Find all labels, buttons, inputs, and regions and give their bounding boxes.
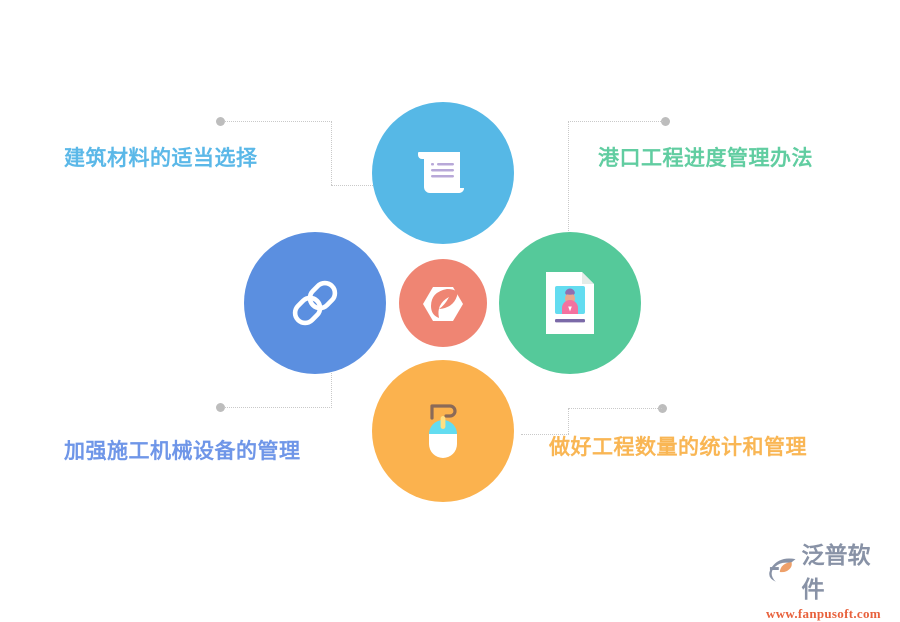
connector-segment-h	[224, 121, 332, 122]
center-circle-logo[interactable]	[399, 259, 487, 347]
fanpu-leaf-logo-icon	[417, 277, 469, 329]
connector-segment-h	[568, 121, 663, 122]
connector-dot-top-left	[216, 117, 225, 126]
connector-segment-h	[568, 408, 662, 409]
scroll-document-icon	[412, 142, 474, 204]
node-circle-bottom[interactable]	[372, 360, 514, 502]
node-circle-right[interactable]	[499, 232, 641, 374]
connector-segment-h	[224, 407, 332, 408]
connector-dot-bottom-right	[658, 404, 667, 413]
watermark-brand-row: 泛普软件	[766, 536, 892, 604]
connector-dot-bottom-left	[216, 403, 225, 412]
fanpu-swoosh-leaf-logo-icon	[766, 556, 799, 584]
node-circle-left[interactable]	[244, 232, 386, 374]
label-bottom-right: 做好工程数量的统计和管理	[549, 431, 807, 461]
watermark-brand-text: 泛普软件	[801, 536, 892, 604]
node-circle-top[interactable]	[372, 102, 514, 244]
label-bottom-left: 加强施工机械设备的管理	[64, 435, 301, 465]
id-resume-document-icon	[542, 270, 598, 336]
infographic-canvas: 建筑材料的适当选择 港口工程进度管理办法 加强施工机械设备的管理 做好工程数量的…	[0, 0, 900, 600]
chain-link-icon	[282, 270, 348, 336]
label-top-left: 建筑材料的适当选择	[64, 142, 258, 172]
connector-segment-v	[568, 121, 569, 231]
watermark: 泛普软件 www.fanpusoft.com	[766, 536, 892, 594]
label-top-right: 港口工程进度管理办法	[598, 142, 813, 172]
computer-mouse-icon	[414, 396, 472, 466]
watermark-url: www.fanpusoft.com	[766, 606, 892, 622]
connector-dot-top-right	[661, 117, 670, 126]
connector-segment-v	[331, 121, 332, 185]
